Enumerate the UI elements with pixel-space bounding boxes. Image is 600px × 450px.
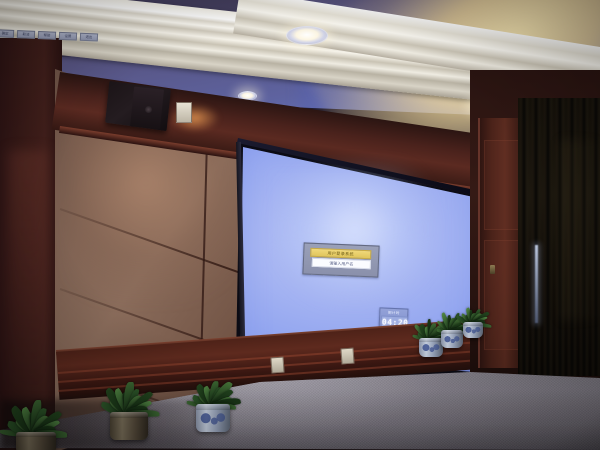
- room-photo: 用户登录系统 请输入用户名 确定取消帮助设置退出 倒计时 04:20: [0, 0, 600, 450]
- pot-rim: [16, 432, 56, 437]
- potted-plant-6: [0, 0, 600, 450]
- potted-plant-6-pot: [16, 432, 56, 450]
